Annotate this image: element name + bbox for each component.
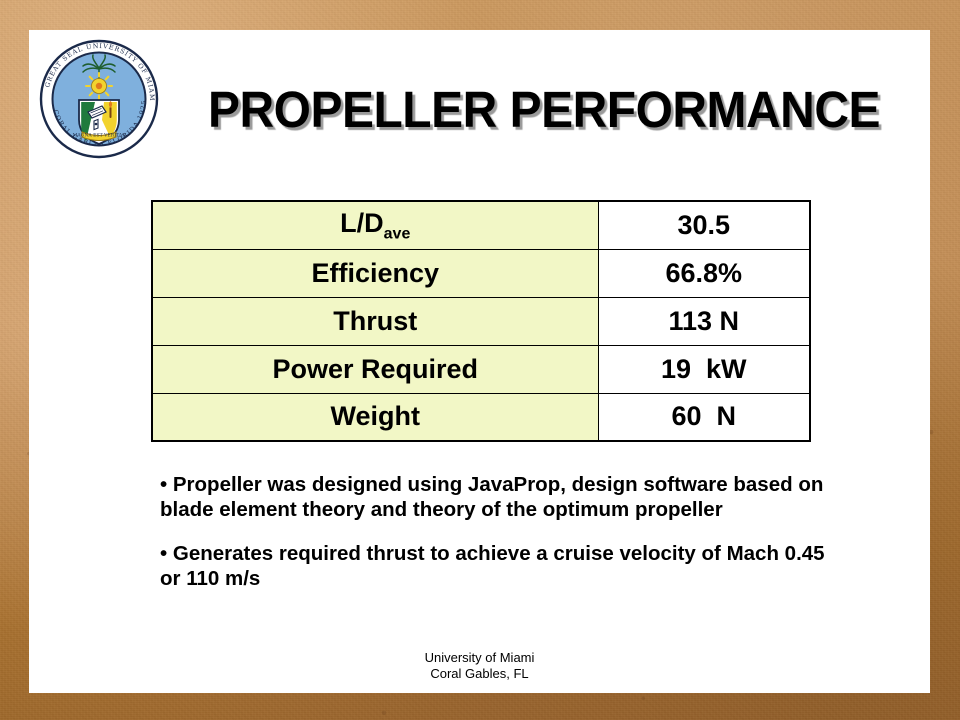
slide-title: PROPELLER PERFORMANCE: [192, 80, 897, 139]
table-cell-label: Power Required: [152, 345, 598, 393]
bullet-list: • Propeller was designed using JavaProp,…: [160, 473, 825, 591]
list-item: • Propeller was designed using JavaProp,…: [160, 473, 825, 522]
table-row: Weight 60 N: [152, 393, 810, 441]
table-cell-label: Efficiency: [152, 249, 598, 297]
list-item: • Generates required thrust to achieve a…: [160, 542, 825, 591]
table-cell-value: 60 N: [598, 393, 810, 441]
table-row: Thrust 113 N: [152, 297, 810, 345]
propeller-performance-table: L/Dave 30.5 Efficiency 66.8% Thrust 113 …: [151, 200, 811, 442]
table-cell-label: L/Dave: [152, 201, 598, 249]
table-cell-label: Weight: [152, 393, 598, 441]
slide-footer: University of Miami Coral Gables, FL: [29, 650, 930, 683]
table-row: Efficiency 66.8%: [152, 249, 810, 297]
slide-canvas: GREAT SEAL UNIVERSITY OF MIAMI CORAL GAB…: [29, 30, 930, 693]
footer-line-institution: University of Miami: [29, 650, 930, 666]
table-cell-value: 30.5: [598, 201, 810, 249]
table-cell-value: 19 kW: [598, 345, 810, 393]
svg-text:MAGNA EST VERITAS: MAGNA EST VERITAS: [73, 133, 126, 139]
label-text: L/D: [340, 208, 384, 238]
table-row: Power Required 19 kW: [152, 345, 810, 393]
university-of-miami-seal-icon: GREAT SEAL UNIVERSITY OF MIAMI CORAL GAB…: [38, 38, 160, 160]
table-row: L/Dave 30.5: [152, 201, 810, 249]
footer-line-location: Coral Gables, FL: [29, 666, 930, 682]
label-subscript: ave: [384, 225, 411, 242]
table-cell-label: Thrust: [152, 297, 598, 345]
table-cell-value: 66.8%: [598, 249, 810, 297]
table-cell-value: 113 N: [598, 297, 810, 345]
